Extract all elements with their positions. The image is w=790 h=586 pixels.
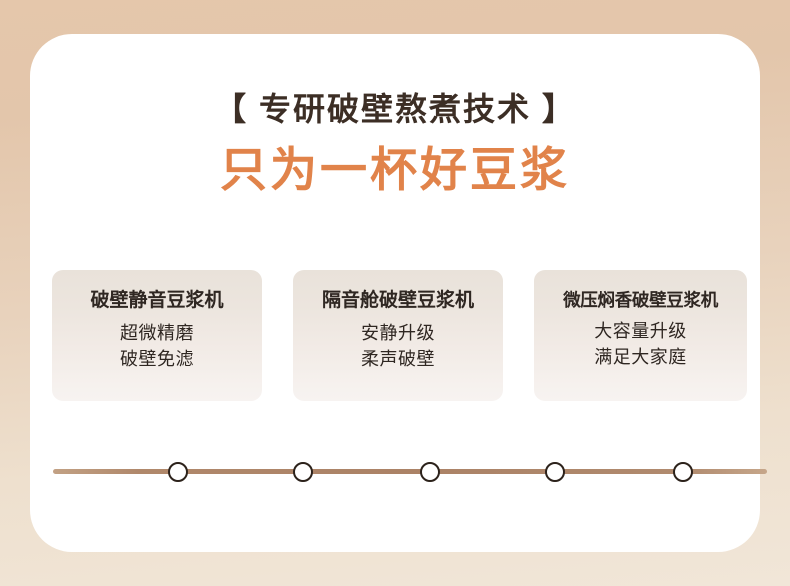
feature-card-3-subtitle-line-1: 大容量升级 bbox=[534, 319, 747, 345]
timeline bbox=[53, 452, 767, 492]
headline-subtitle: 【 专研破壁熬煮技术 】 bbox=[30, 92, 760, 127]
timeline-dot-2[interactable] bbox=[293, 462, 313, 482]
feature-card-3-title: 微压焖香破壁豆浆机 bbox=[534, 290, 747, 311]
feature-card-3[interactable]: 微压焖香破壁豆浆机 大容量升级 满足大家庭 bbox=[534, 270, 747, 401]
feature-card-row: 破壁静音豆浆机 超微精磨 破壁免滤 隔音舱破壁豆浆机 安静升级 柔声破壁 微压焖… bbox=[52, 270, 766, 401]
feature-card-1[interactable]: 破壁静音豆浆机 超微精磨 破壁免滤 bbox=[52, 270, 262, 401]
feature-card-2[interactable]: 隔音舱破壁豆浆机 安静升级 柔声破壁 bbox=[293, 270, 503, 401]
timeline-dot-5[interactable] bbox=[673, 462, 693, 482]
timeline-dot-4[interactable] bbox=[545, 462, 565, 482]
feature-card-1-subtitle-line-2: 破壁免滤 bbox=[52, 347, 262, 373]
feature-card-1-subtitle-line-1: 超微精磨 bbox=[52, 321, 262, 347]
feature-card-2-subtitle-line-1: 安静升级 bbox=[293, 321, 503, 347]
feature-card-1-subtitle: 超微精磨 破壁免滤 bbox=[52, 321, 262, 373]
timeline-dot-3[interactable] bbox=[420, 462, 440, 482]
content-panel: 【 专研破壁熬煮技术 】 只为一杯好豆浆 破壁静音豆浆机 超微精磨 破壁免滤 隔… bbox=[30, 34, 760, 552]
headline-block: 【 专研破壁熬煮技术 】 只为一杯好豆浆 bbox=[30, 92, 760, 196]
feature-card-2-subtitle: 安静升级 柔声破壁 bbox=[293, 321, 503, 373]
feature-card-2-title: 隔音舱破壁豆浆机 bbox=[293, 290, 503, 313]
timeline-dot-1[interactable] bbox=[168, 462, 188, 482]
feature-card-3-subtitle: 大容量升级 满足大家庭 bbox=[534, 319, 747, 371]
timeline-track bbox=[53, 469, 767, 474]
feature-card-3-subtitle-line-2: 满足大家庭 bbox=[534, 345, 747, 371]
headline-title: 只为一杯好豆浆 bbox=[30, 144, 760, 196]
feature-card-2-subtitle-line-2: 柔声破壁 bbox=[293, 347, 503, 373]
feature-card-1-title: 破壁静音豆浆机 bbox=[52, 290, 262, 313]
promo-banner: 【 专研破壁熬煮技术 】 只为一杯好豆浆 破壁静音豆浆机 超微精磨 破壁免滤 隔… bbox=[0, 0, 790, 586]
